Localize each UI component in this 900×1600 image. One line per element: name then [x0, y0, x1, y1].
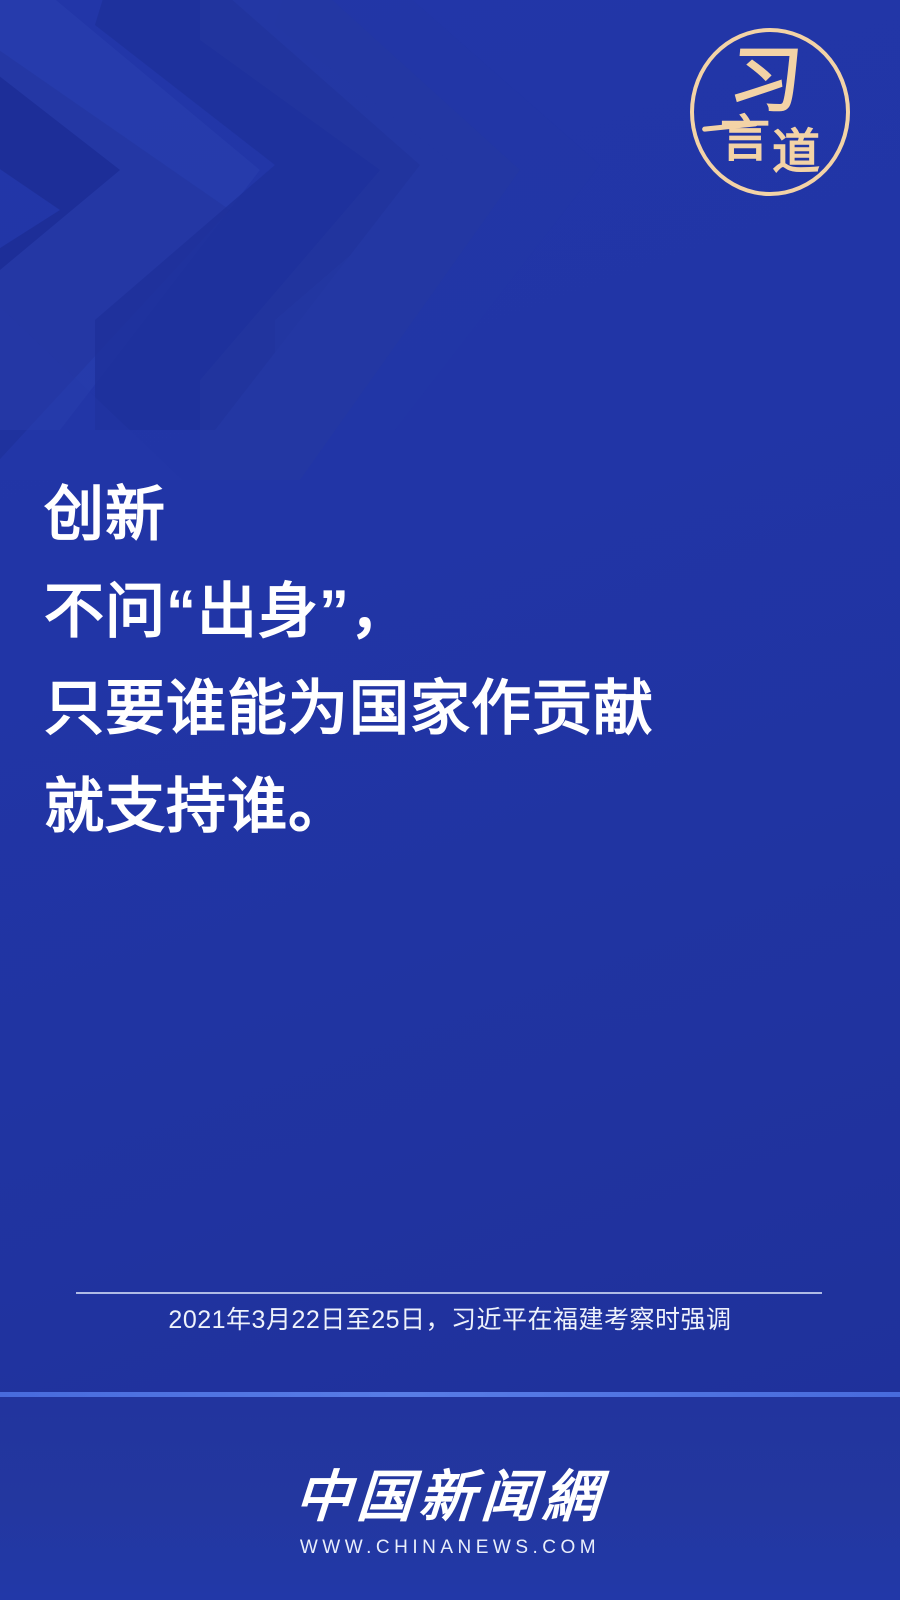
- chevron-shape-6: [0, 250, 330, 480]
- quote-line-2: 不问“出身”，: [44, 563, 744, 660]
- attribution-text: 2021年3月22日至25日，习近平在福建考察时强调: [0, 1300, 900, 1336]
- seal-char-xi: 习: [727, 44, 805, 116]
- seal-char-yan: 言: [720, 114, 770, 164]
- seal-char-dao: 道: [772, 128, 820, 176]
- quote-line-3: 只要谁能为国家作贡献: [44, 660, 744, 757]
- chevron-shape-2: [0, 0, 260, 430]
- chinanews-logo-text: 中国新闻網: [293, 1468, 607, 1527]
- chevron-shape-1: [0, 0, 230, 470]
- chevron-shape-4: [275, 0, 600, 430]
- xi-yan-dao-seal-logo: 习 言 道: [690, 28, 850, 196]
- quote-line-4: 就支持谁。: [44, 758, 744, 855]
- poster-root: 习 言 道 创新 不问“出身”， 只要谁能为国家作贡献 就支持谁。 2021年3…: [0, 0, 900, 1600]
- footer-brand-block: 中国新闻網 WWW.CHINANEWS.COM: [0, 1468, 900, 1559]
- chinanews-url: WWW.CHINANEWS.COM: [0, 1537, 900, 1559]
- quote-line-1: 创新: [44, 466, 744, 563]
- attribution-divider: [76, 1292, 822, 1294]
- chevron-shape-3: [95, 0, 420, 430]
- quote-block: 创新 不问“出身”， 只要谁能为国家作贡献 就支持谁。: [44, 466, 744, 855]
- chevron-shape-5: [200, 0, 520, 480]
